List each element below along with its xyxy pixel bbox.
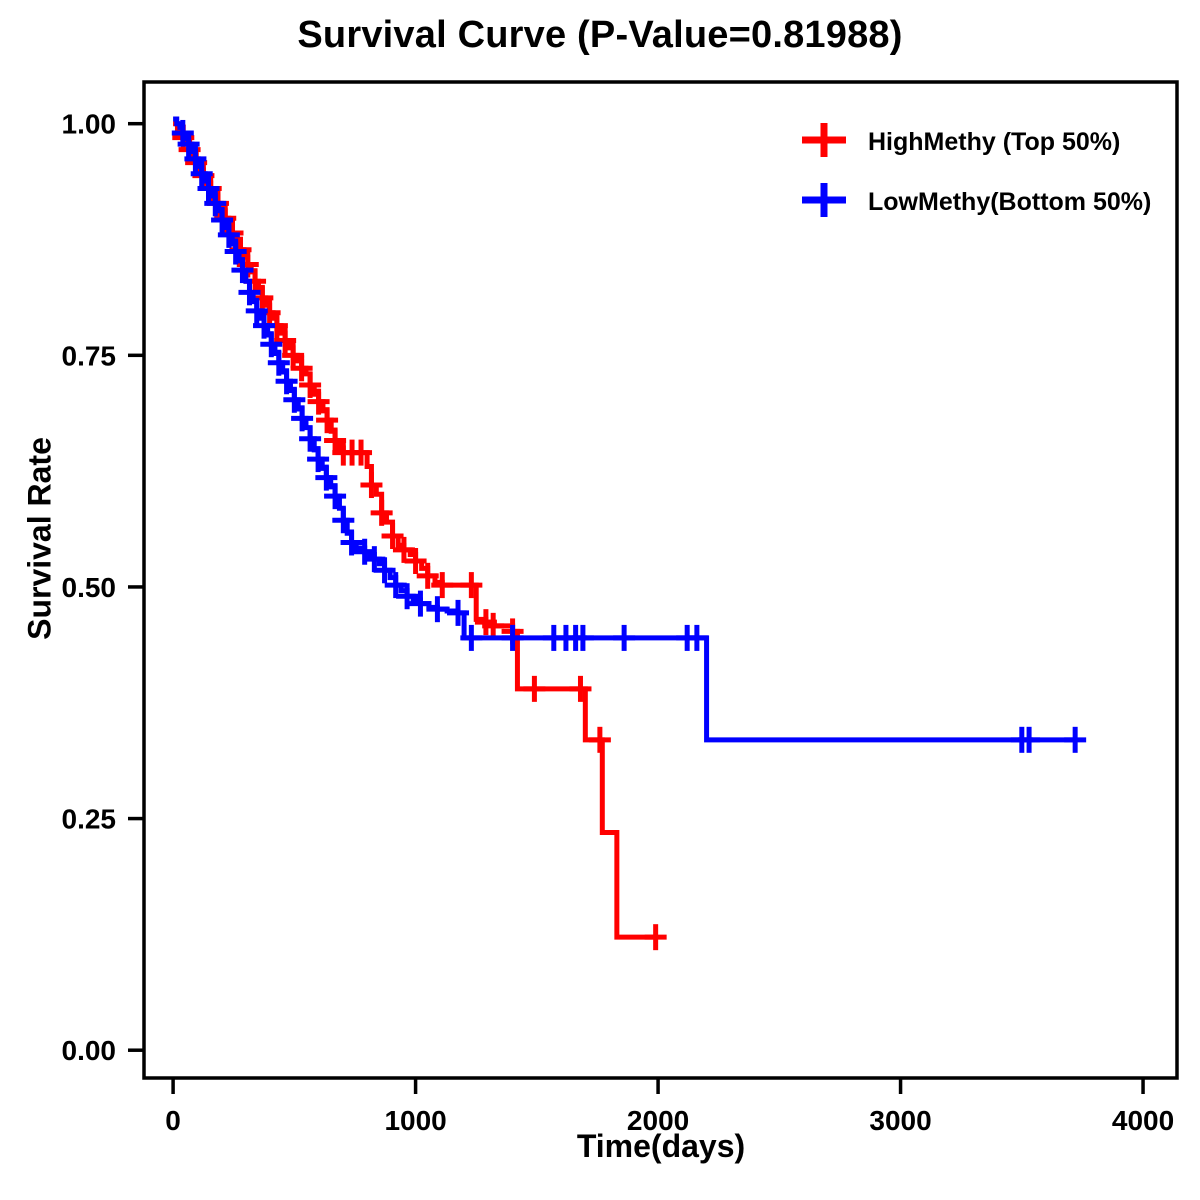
y-tick-label: 1.00 (62, 109, 117, 140)
x-tick-label: 4000 (1112, 1105, 1174, 1136)
y-tick-label: 0.75 (62, 340, 117, 371)
y-axis-ticks: 0.000.250.500.751.00 (62, 109, 145, 1067)
legend-item-low-methy[interactable]: LowMethy(Bottom 50%) (802, 183, 1151, 217)
x-tick-label: 1000 (384, 1105, 446, 1136)
y-tick-label: 0.50 (62, 572, 117, 603)
step-line (173, 124, 656, 937)
legend-item-high-methy[interactable]: HighMethy (Top 50%) (802, 123, 1120, 157)
censor-markers (172, 125, 666, 951)
legend-label: HighMethy (Top 50%) (868, 128, 1120, 156)
survival-curve-figure: Survival Curve (P-Value=0.81988) Surviva… (0, 0, 1200, 1200)
legend-label: LowMethy(Bottom 50%) (868, 188, 1151, 216)
legend: HighMethy (Top 50%)LowMethy(Bottom 50%) (802, 123, 1151, 217)
series-high-methy (172, 124, 666, 950)
x-tick-label: 3000 (869, 1105, 931, 1136)
survival-curves (172, 119, 1086, 950)
x-axis-ticks: 01000200030004000 (165, 1078, 1174, 1136)
plot-area: 01000200030004000 0.000.250.500.751.00 H… (0, 0, 1200, 1200)
x-tick-label: 0 (165, 1105, 181, 1136)
y-tick-label: 0.00 (62, 1035, 117, 1066)
y-tick-label: 0.25 (62, 804, 117, 835)
plot-frame (144, 82, 1177, 1078)
x-tick-label: 2000 (627, 1105, 689, 1136)
